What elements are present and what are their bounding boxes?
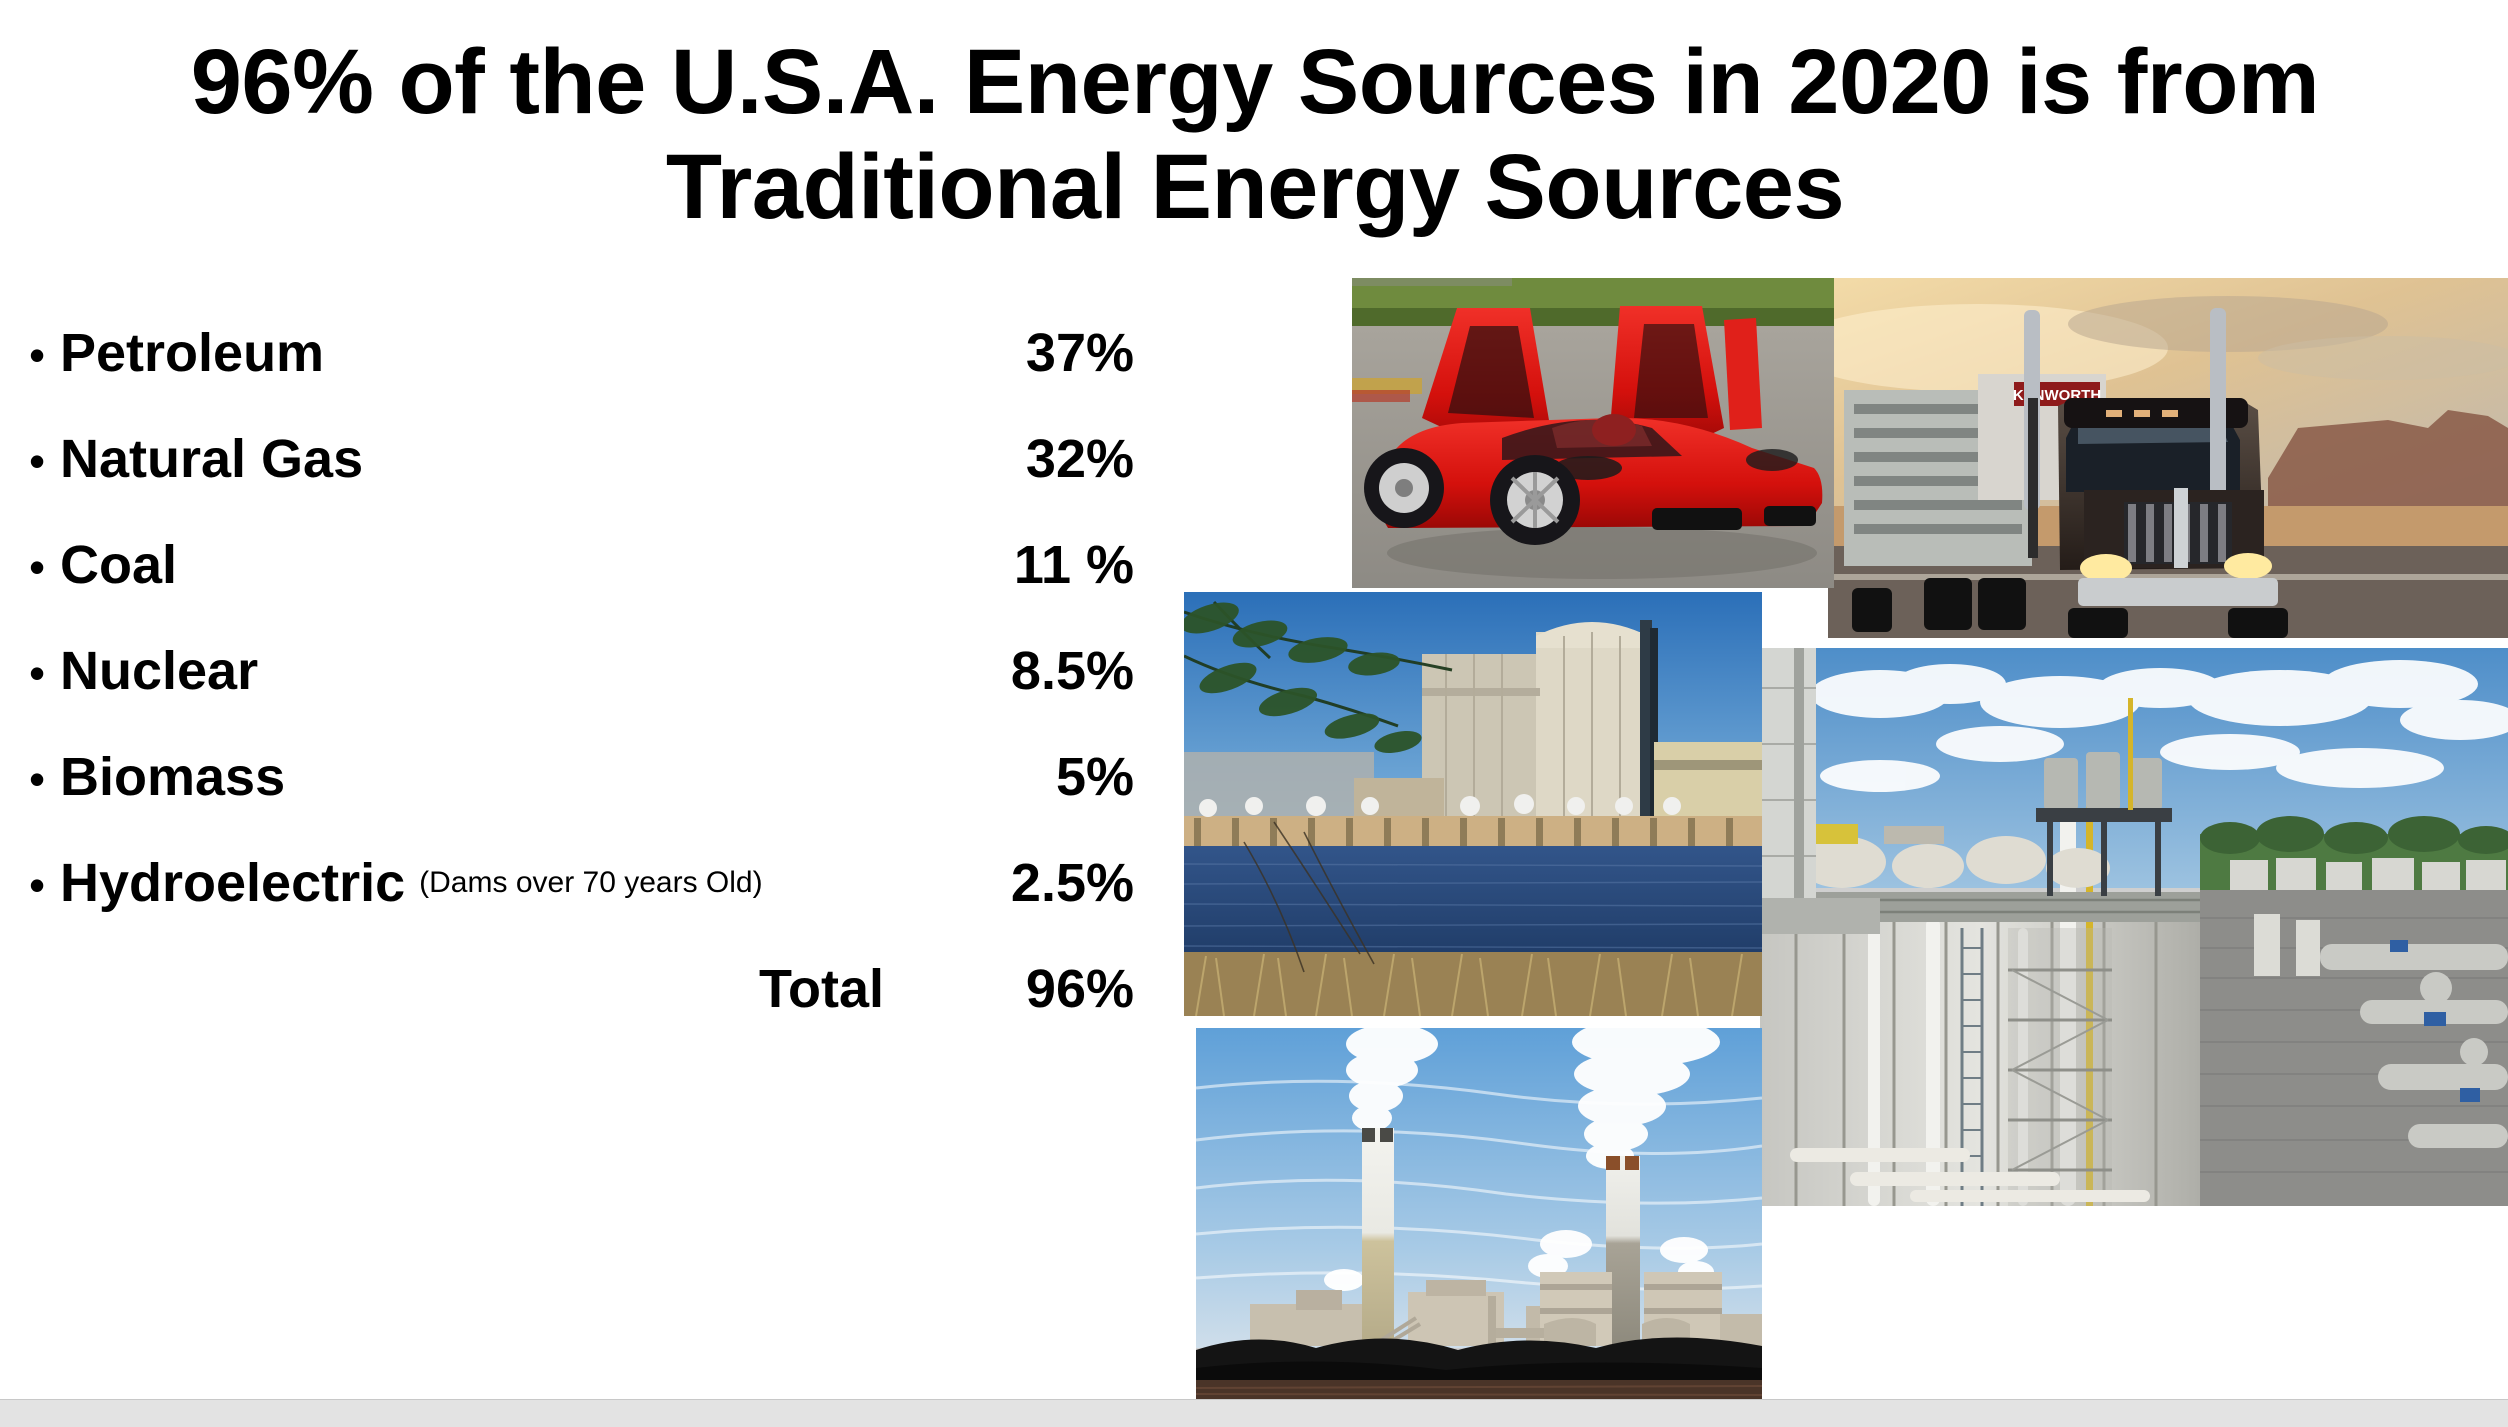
title-line-2: Traditional Energy Sources (60, 135, 2450, 240)
energy-source-percent: 32% (894, 428, 1134, 490)
energy-source-percent: 11 % (894, 534, 1134, 596)
list-item: • Nuclear 8.5% (14, 618, 1134, 724)
page-title: 96% of the U.S.A. Energy Sources in 2020… (60, 30, 2450, 240)
energy-source-name: Petroleum (60, 322, 324, 384)
energy-source-name: Nuclear (60, 640, 258, 702)
slide-canvas: 96% of the U.S.A. Energy Sources in 2020… (0, 0, 2508, 1399)
bullet-icon: • (14, 752, 60, 802)
coal-power-plant-photo (1196, 1028, 1762, 1399)
energy-source-name: Hydroelectric (60, 852, 405, 914)
total-percent: 96% (894, 958, 1134, 1020)
bullet-icon: • (14, 858, 60, 908)
kenworth-semi-truck-photo: KENWORTH (1828, 278, 2508, 638)
list-item: • Petroleum 37% (14, 300, 1134, 406)
energy-source-note: (Dams over 70 years Old) (419, 866, 762, 900)
red-sports-car-photo (1352, 278, 1834, 588)
energy-source-percent: 5% (894, 746, 1134, 808)
natural-gas-processing-plant-photo (1760, 648, 2508, 1206)
total-row: Total 96% (14, 936, 1134, 1042)
energy-source-name: Coal (60, 534, 177, 596)
energy-source-name: Biomass (60, 746, 285, 808)
energy-source-percent: 37% (894, 322, 1134, 384)
list-item: • Natural Gas 32% (14, 406, 1134, 512)
list-item: • Coal 11 % (14, 512, 1134, 618)
bullet-icon: • (14, 540, 60, 590)
energy-sources-list: • Petroleum 37% • Natural Gas 32% • Coal… (14, 300, 1134, 1042)
list-item: • Hydroelectric (Dams over 70 years Old)… (14, 830, 1134, 936)
bottom-chrome-bar (0, 1399, 2508, 1427)
title-line-1: 96% of the U.S.A. Energy Sources in 2020… (60, 30, 2450, 135)
energy-source-name: Natural Gas (60, 428, 363, 490)
list-item: • Biomass 5% (14, 724, 1134, 830)
nuclear-power-plant-photo (1184, 592, 1762, 1016)
total-label: Total (759, 958, 884, 1020)
bullet-icon: • (14, 328, 60, 378)
energy-source-percent: 8.5% (894, 640, 1134, 702)
bullet-icon: • (14, 646, 60, 696)
bullet-icon: • (14, 434, 60, 484)
energy-source-percent: 2.5% (894, 852, 1134, 914)
